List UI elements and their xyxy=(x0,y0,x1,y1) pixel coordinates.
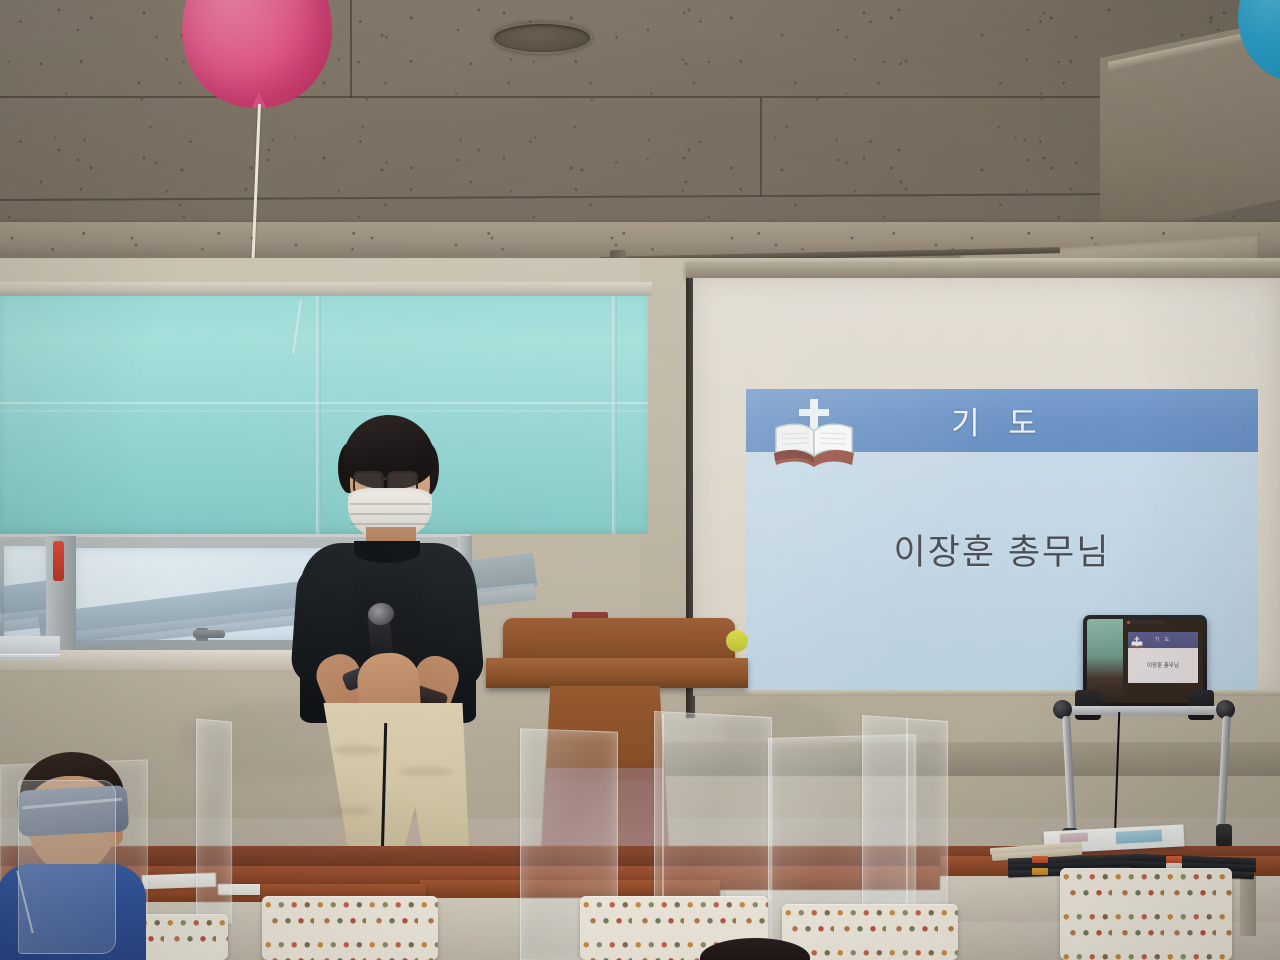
tablet-mirrored-slide: 기 도 이장훈 총무님 xyxy=(1128,632,1198,682)
speaker-figure xyxy=(286,415,486,885)
slide-header: 기 도 xyxy=(746,389,1258,452)
tablet-stand-mount-right xyxy=(1188,690,1214,720)
papers-on-sill xyxy=(0,636,60,654)
book-stack-right xyxy=(990,836,1270,862)
ceiling-seam xyxy=(0,96,1100,98)
tablet-bible-icon xyxy=(1131,635,1143,651)
glasses-bridge xyxy=(380,477,388,480)
acrylic-divider xyxy=(196,718,232,923)
blind-crease xyxy=(0,410,648,412)
window-handle[interactable] xyxy=(53,541,64,581)
recessed-ceiling-light-icon xyxy=(492,22,592,54)
face-shield-visor xyxy=(18,780,116,954)
slide-subtitle: 이장훈 총무님 xyxy=(894,524,1111,575)
tablet-toolbar[interactable] xyxy=(1125,620,1165,625)
seat-cushion xyxy=(782,904,958,960)
tablet-slide-subtitle: 이장훈 총무님 xyxy=(1147,661,1179,669)
seated-child xyxy=(0,752,146,960)
screen-housing xyxy=(686,262,1280,278)
tablet-slide-body: 이장훈 총무님 xyxy=(1128,648,1198,683)
seat-cushion xyxy=(1060,868,1232,960)
tablet-stand-mount-left xyxy=(1075,690,1101,720)
bench-leg xyxy=(1240,876,1256,936)
blind-divider xyxy=(612,296,617,534)
ceiling-seam xyxy=(760,98,762,196)
shirt-collar xyxy=(354,541,420,563)
podium-ledge xyxy=(486,658,748,688)
tablet-stand-crossbar[interactable] xyxy=(1058,706,1230,715)
ceiling-seam xyxy=(350,0,352,98)
blind-crease xyxy=(0,402,648,404)
tablet-slide-title: 기 도 xyxy=(1155,636,1172,643)
seat-cushion xyxy=(262,896,438,960)
podium-yellow-object xyxy=(726,630,748,652)
tablet-screen: 기 도 이장훈 총무님 xyxy=(1087,619,1203,703)
window-latch[interactable] xyxy=(193,630,225,638)
photo-scene: 기 도 이장훈 총무님 xyxy=(0,0,1280,960)
